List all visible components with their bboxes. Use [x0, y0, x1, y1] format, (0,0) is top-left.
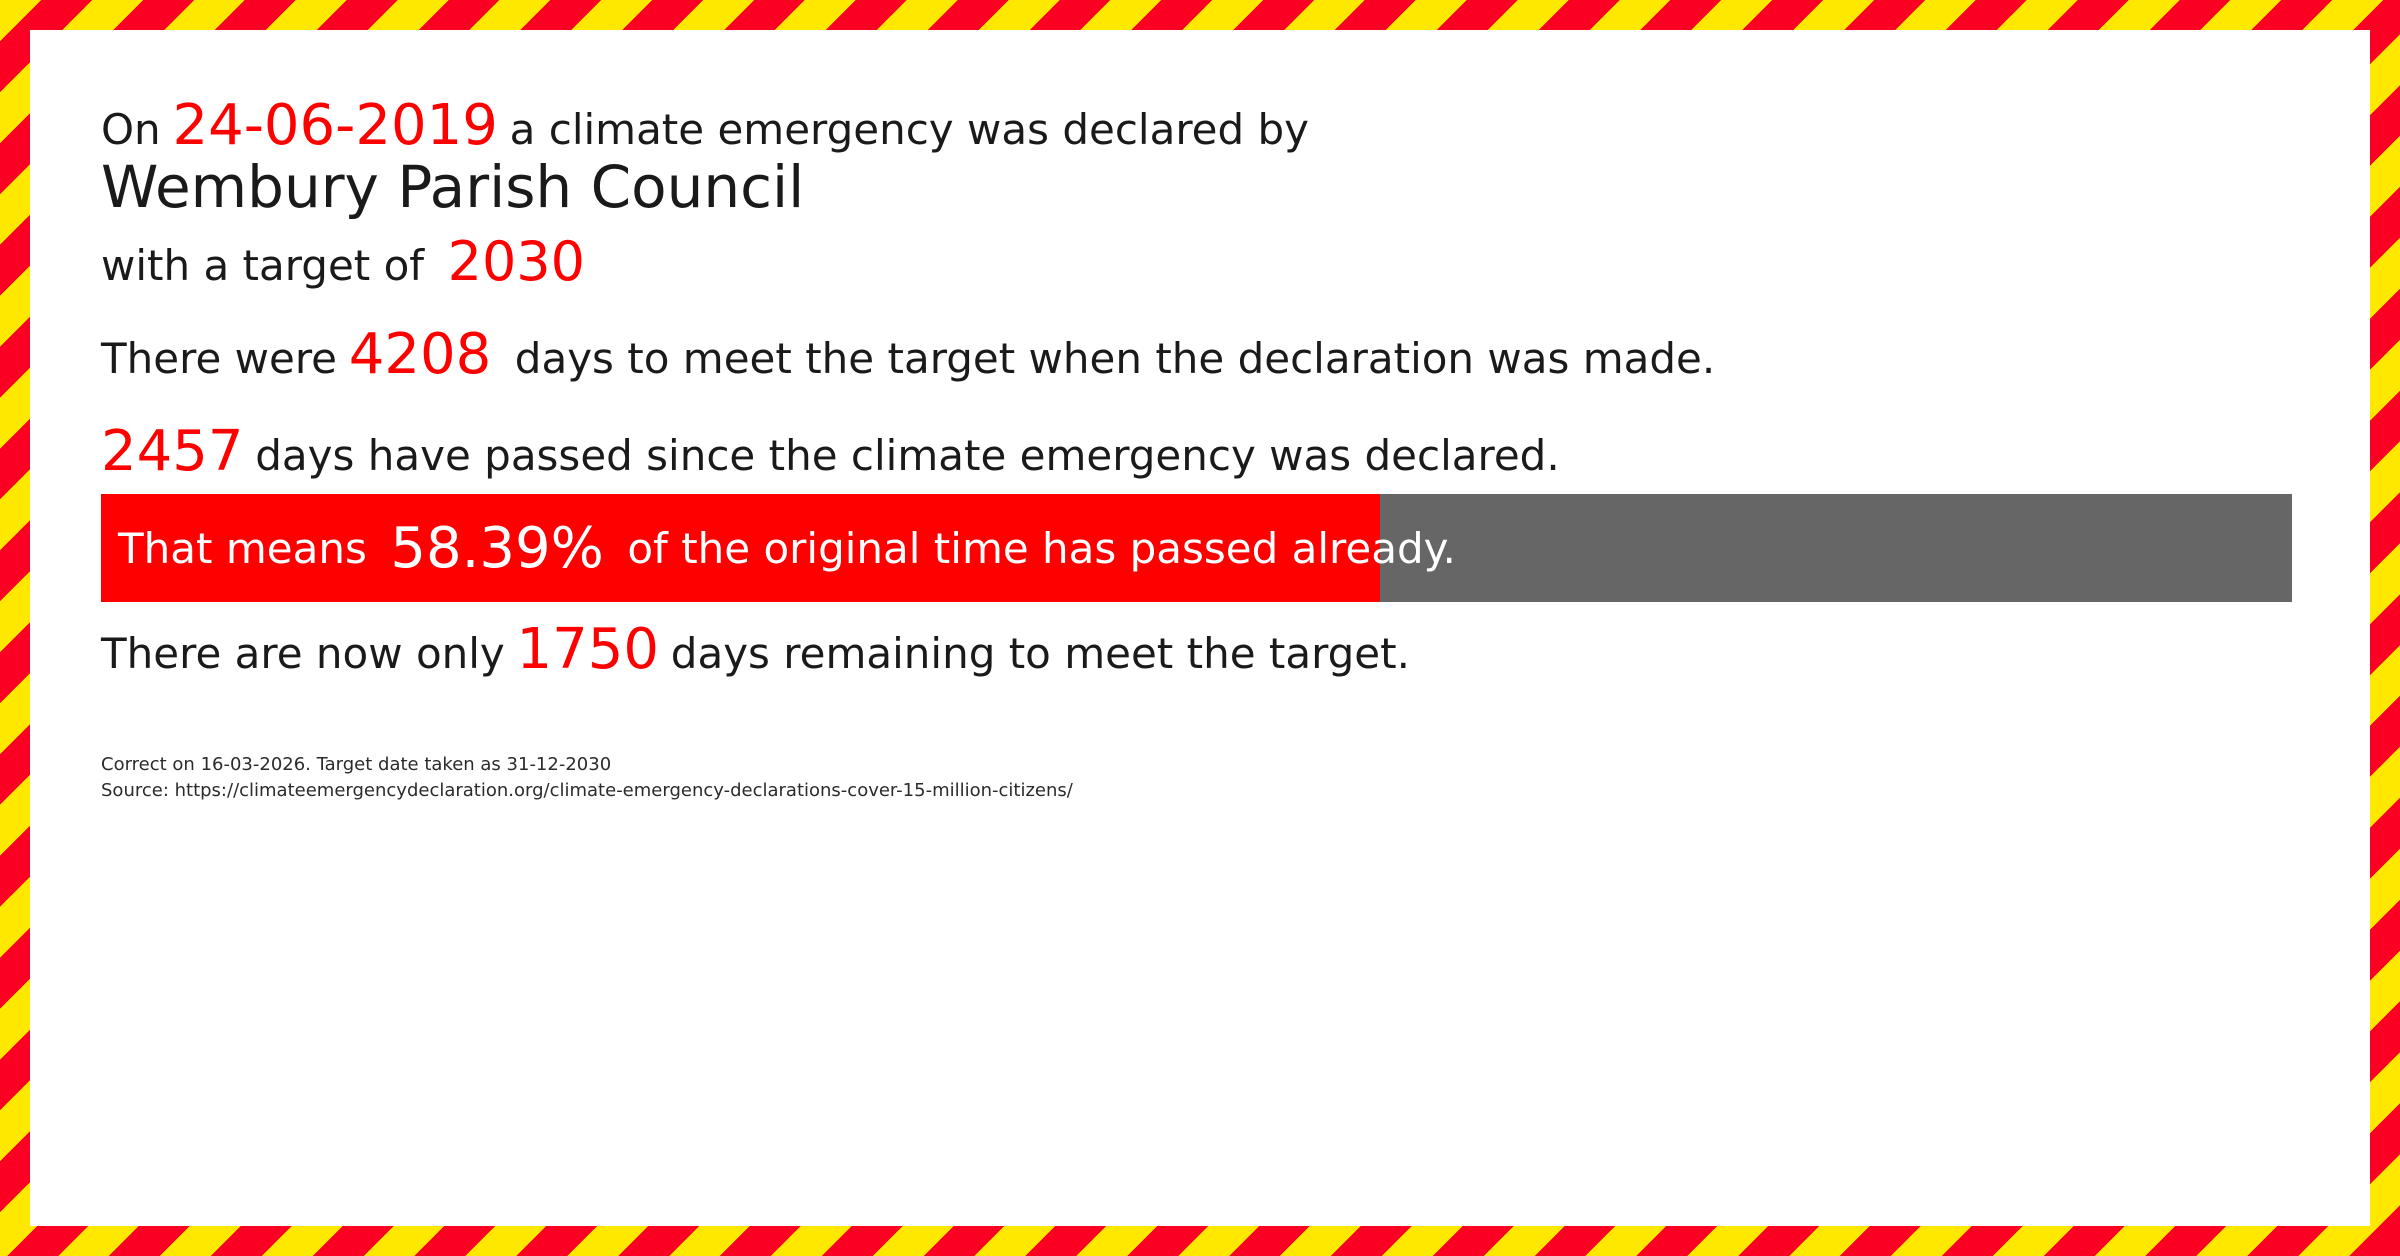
poster-content: On24-06-2019a climate emergency was decl…: [101, 30, 2330, 1226]
target-prefix: with a target of: [101, 241, 424, 290]
declaration-suffix: a climate emergency was declared by: [510, 105, 1309, 154]
target-year: 2030: [448, 230, 585, 293]
declaration-line: On24-06-2019a climate emergency was decl…: [101, 98, 1309, 154]
hazard-striped-frame: On24-06-2019a climate emergency was decl…: [0, 0, 2400, 1256]
days-to-meet-prefix: There were: [101, 334, 337, 383]
footnotes: Correct on 16-03-2026. Target date taken…: [101, 752, 1073, 804]
progress-bar-track: That means58.39%of the original time has…: [101, 494, 2292, 602]
days-passed-value: 2457: [101, 419, 244, 484]
remaining-suffix: days remaining to meet the target.: [671, 629, 1410, 678]
progress-suffix: of the original time has passed already.: [627, 524, 1456, 573]
progress-bar-label: That means58.39%of the original time has…: [118, 494, 1456, 602]
days-to-meet-line: There were4208days to meet the target wh…: [101, 327, 1715, 383]
poster-card: On24-06-2019a climate emergency was decl…: [30, 30, 2370, 1226]
days-remaining-value: 1750: [517, 617, 660, 682]
days-remaining-line: There are now only1750days remaining to …: [101, 622, 1410, 678]
days-to-meet-value: 4208: [349, 322, 492, 387]
correct-on-note: Correct on 16-03-2026. Target date taken…: [101, 752, 1073, 778]
days-passed-suffix: days have passed since the climate emerg…: [255, 431, 1559, 480]
declaration-date: 24-06-2019: [172, 93, 497, 158]
days-to-meet-suffix: days to meet the target when the declara…: [515, 334, 1715, 383]
council-name: Wembury Parish Council: [101, 158, 804, 216]
progress-percent: 58.39%: [390, 516, 604, 581]
source-note: Source: https://climateemergencydeclarat…: [101, 778, 1073, 804]
days-passed-line: 2457days have passed since the climate e…: [101, 424, 1560, 480]
declaration-prefix: On: [101, 105, 161, 154]
remaining-prefix: There are now only: [101, 629, 505, 678]
target-line: with a target of2030: [101, 235, 585, 289]
progress-prefix: That means: [118, 524, 367, 573]
